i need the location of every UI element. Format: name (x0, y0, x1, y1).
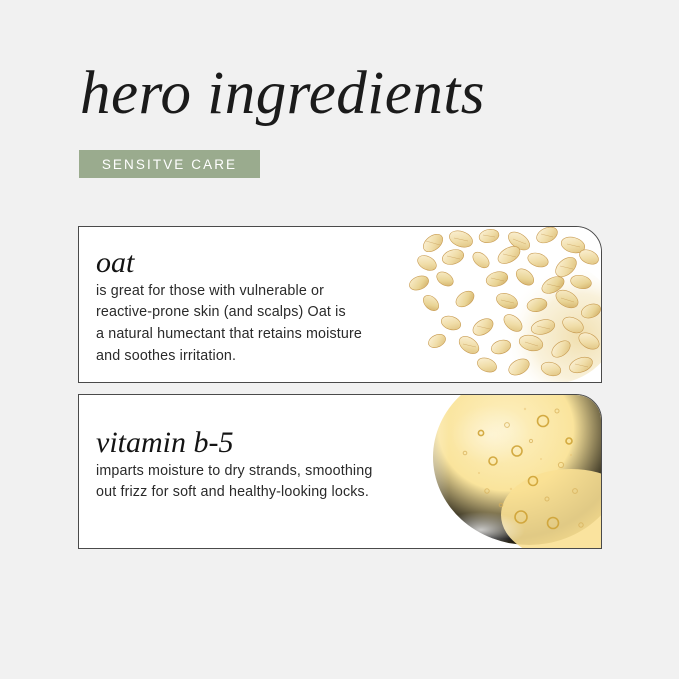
page-title: hero ingredients (80, 63, 485, 124)
oat-flakes-icon (401, 227, 601, 382)
oat-card-body: is great for those with vulnerable or re… (96, 281, 362, 368)
vitamin-card-text: vitamin b-5 imparts moisture to dry stra… (96, 427, 372, 504)
ingredients-page: hero ingredients SENSITVE CARE (0, 0, 679, 679)
vitamin-card-title: vitamin b-5 (96, 427, 372, 459)
oat-card-text: oat is great for those with vulnerable o… (96, 247, 362, 367)
ingredient-card-vitamin-b5: vitamin b-5 imparts moisture to dry stra… (78, 394, 602, 549)
badge-label: SENSITVE CARE (102, 157, 237, 172)
oil-droplet-icon (421, 395, 601, 548)
oat-card-title: oat (96, 247, 362, 279)
status-badge: SENSITVE CARE (79, 150, 260, 178)
ingredient-card-oat: oat is great for those with vulnerable o… (78, 226, 602, 383)
vitamin-card-body: imparts moisture to dry strands, smoothi… (96, 461, 372, 504)
